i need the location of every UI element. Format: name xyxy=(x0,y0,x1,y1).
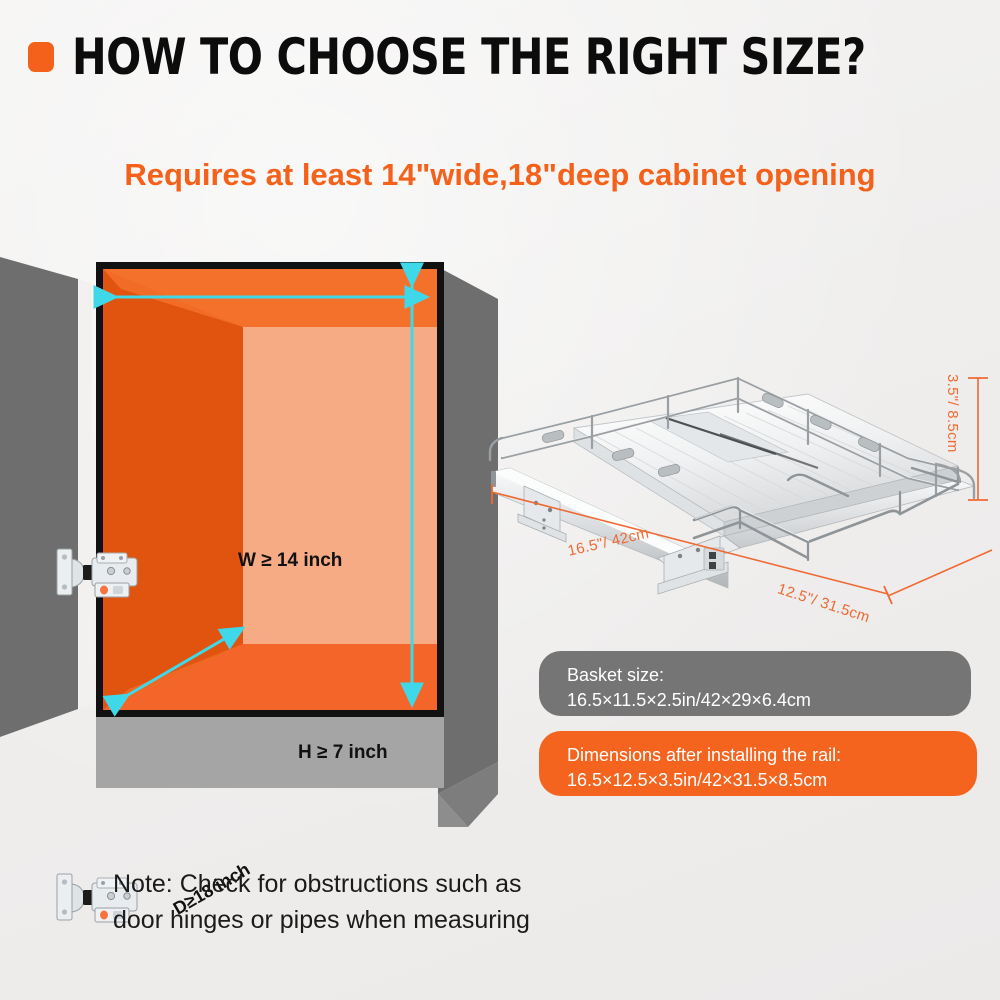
cabinet-height-label: H ≥ 7 inch xyxy=(298,742,388,764)
basket-size-box: Basket size: 16.5×11.5×2.5in/42×29×6.4cm xyxy=(539,651,971,716)
cabinet-width-label: W ≥ 14 inch xyxy=(238,550,342,572)
requirement-subtitle: Requires at least 14"wide,18"deep cabine… xyxy=(0,157,1000,193)
square-bullet-icon xyxy=(28,42,54,72)
infographic-page: HOW TO CHOOSE THE RIGHT SIZE? Requires a… xyxy=(0,0,1000,1000)
note-line-2: door hinges or pipes when measuring xyxy=(113,902,530,938)
page-header: HOW TO CHOOSE THE RIGHT SIZE? xyxy=(28,28,935,86)
installed-dimensions-value: 16.5×12.5×3.5in/42×31.5×8.5cm xyxy=(567,768,953,793)
pullout-basket-product xyxy=(488,372,988,622)
note-line-1: Note: Check for obstructions such as xyxy=(113,866,530,902)
cabinet-door xyxy=(0,257,92,737)
measuring-note: Note: Check for obstructions such as doo… xyxy=(113,866,530,939)
basket-size-value: 16.5×11.5×2.5in/42×29×6.4cm xyxy=(567,688,947,713)
basket-size-title: Basket size: xyxy=(567,663,947,688)
cabinet-hinge-icon xyxy=(55,545,139,601)
cabinet-diagram: W ≥ 14 inch H ≥ 7 inch D≥18 inch xyxy=(0,245,510,805)
product-height-label: 3.5"/ 8.5cm xyxy=(944,374,961,453)
installed-dimensions-title: Dimensions after installing the rail: xyxy=(567,743,953,768)
installed-dimensions-box: Dimensions after installing the rail: 16… xyxy=(539,731,977,796)
page-title: HOW TO CHOOSE THE RIGHT SIZE? xyxy=(72,28,866,86)
